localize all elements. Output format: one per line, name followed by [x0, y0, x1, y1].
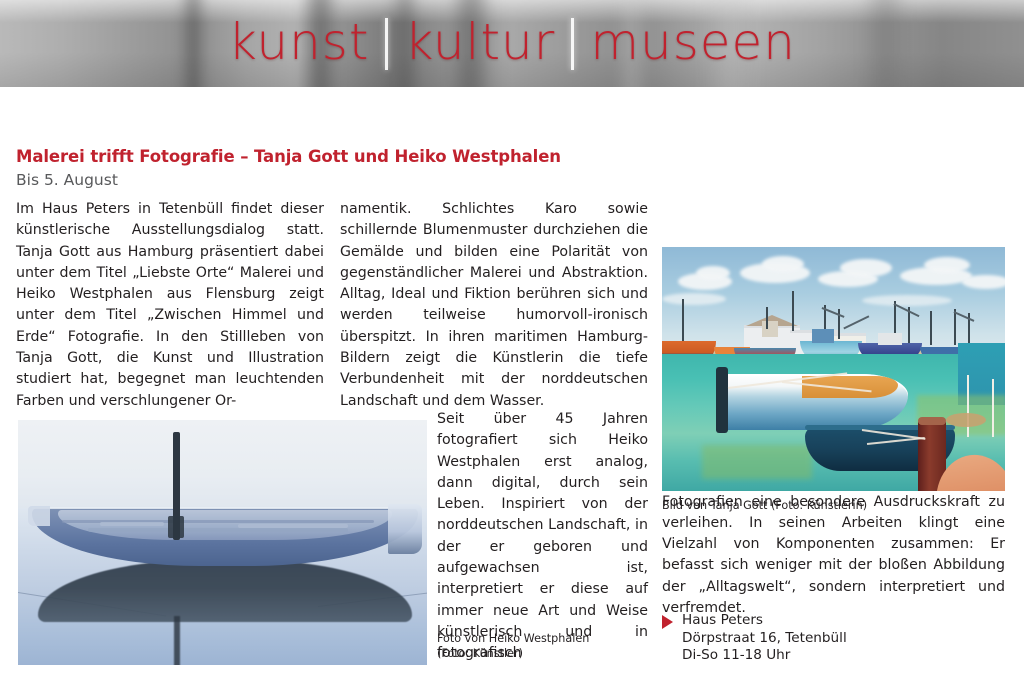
photo-caption: Foto von Heiko Westphalen (Foto: Künstle…	[437, 632, 648, 661]
boat-oar	[238, 524, 348, 528]
pole-shape	[967, 375, 969, 437]
wheelhouse-shape	[812, 329, 834, 343]
mast-shape	[930, 311, 932, 345]
mast-shape	[766, 307, 768, 329]
buoy-shape	[946, 413, 986, 427]
painting-caption: Bild von Tanja Gott (Foto: Künstlerin)	[662, 499, 1005, 514]
photo-caption-line-1: Foto von Heiko Westphalen	[437, 632, 648, 647]
article-column-2-top: namentik. Schlichtes Karo sowie schiller…	[340, 199, 648, 412]
boat-gunwale	[32, 507, 420, 509]
magazine-page: kunst kultur museen Malerei trifft Fotog…	[0, 0, 1024, 687]
article-column-1: Im Haus Peters in Tetenbüll findet diese…	[16, 199, 324, 412]
mast-shape	[682, 299, 684, 343]
figure-painting	[662, 247, 1005, 491]
cloud-shape	[840, 259, 892, 277]
cloud-shape	[924, 257, 970, 273]
figure-photo	[18, 420, 427, 665]
boat-bow	[28, 506, 50, 526]
banner-title: kunst kultur museen	[0, 0, 1024, 87]
photo-caption-line-2: (Foto: Künstler)	[437, 647, 648, 662]
cloud-shape	[862, 295, 952, 306]
cloud-shape	[962, 275, 1005, 289]
mast-shape	[792, 291, 794, 331]
venue-info: Haus Peters Dörpstraat 16, Tetenbüll Di-…	[662, 612, 1005, 665]
boat-oar	[100, 522, 164, 526]
article-headline: Malerei trifft Fotografie – Tanja Gott u…	[16, 147, 656, 166]
site-banner: kunst kultur museen	[0, 0, 1024, 87]
banner-word-kultur: kultur	[388, 17, 571, 67]
cloud-shape	[696, 266, 730, 280]
photo-sky	[18, 420, 427, 513]
mast-shape	[954, 309, 956, 345]
cloud-shape	[662, 293, 726, 305]
banner-word-museen: museen	[574, 17, 812, 67]
article-content: Malerei trifft Fotografie – Tanja Gott u…	[0, 87, 1024, 687]
mast-reflection	[174, 616, 180, 665]
venue-address: Dörpstraat 16, Tetenbüll	[682, 630, 847, 648]
mast-foot	[168, 516, 184, 538]
piling-cap	[918, 417, 946, 425]
roof-shape	[762, 321, 778, 337]
cloud-shape	[762, 256, 804, 272]
article-column-2-bottom: Seit über 45 Jahren fotografiert sich He…	[437, 409, 648, 665]
venue-name: Haus Peters	[682, 612, 847, 630]
algae-shape	[702, 445, 812, 479]
rowboat-bow	[716, 367, 728, 433]
banner-word-kunst: kunst	[212, 17, 385, 67]
triangle-right-icon	[662, 615, 673, 629]
rowboat-interior	[802, 376, 898, 398]
pole-shape	[992, 379, 994, 437]
boat-thwart	[88, 528, 348, 532]
mast-shape	[908, 307, 910, 345]
boat-stern	[388, 504, 422, 554]
wheelhouse-shape	[878, 333, 902, 345]
article-subhead: Bis 5. August	[16, 171, 416, 189]
venue-hours: Di-So 11-18 Uhr	[682, 647, 847, 665]
venue-lines: Haus Peters Dörpstraat 16, Tetenbüll Di-…	[682, 612, 847, 665]
